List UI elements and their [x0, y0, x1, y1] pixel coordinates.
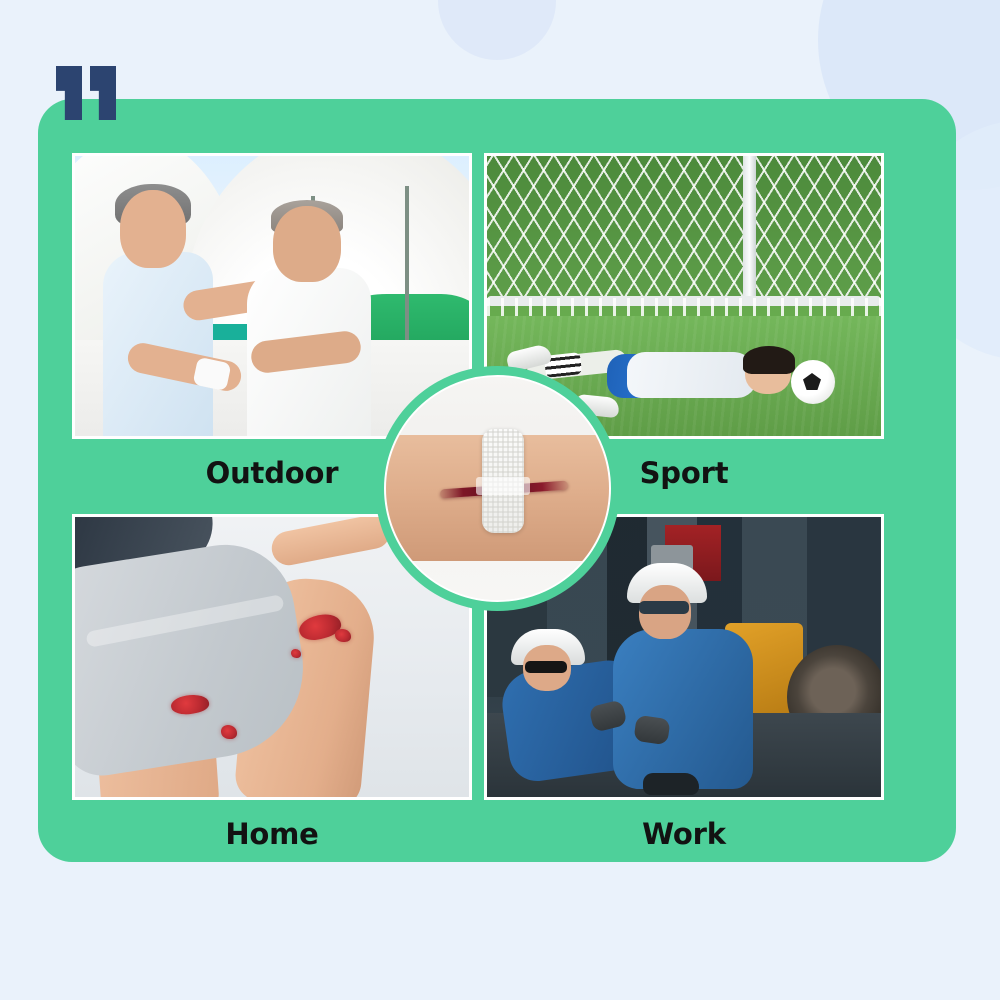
person-right-head: [273, 206, 341, 282]
person-left-head: [120, 190, 186, 268]
center-product-image-frame: [384, 375, 611, 602]
child-arm: [269, 517, 393, 568]
quote-glyph-left: [56, 66, 82, 120]
work-glove-2: [633, 715, 670, 745]
center-product-inset[interactable]: [375, 366, 620, 611]
poster-canvas: Outdoor: [0, 0, 1000, 1000]
knee-scrape-2: [335, 629, 351, 642]
goal-post-shape: [743, 156, 756, 306]
worker-crouching-safety-glasses: [639, 601, 689, 614]
worker-seated-safety-glasses: [525, 661, 567, 673]
soccer-ball: [791, 360, 835, 404]
knee-scrape-3: [291, 649, 301, 658]
quote-glyph-right: [90, 66, 116, 120]
quote-mark-icon: [56, 66, 118, 120]
use-case-label-work: Work: [484, 817, 884, 851]
tent-pole-2: [405, 186, 409, 361]
use-case-label-home: Home: [72, 817, 472, 851]
person-left-shirt: [103, 252, 213, 436]
goal-net-shape: [487, 156, 881, 306]
player-jersey-white: [627, 352, 757, 398]
work-shoe: [643, 773, 699, 795]
photo-wound-closure: [386, 377, 609, 600]
worker-crouching-body: [613, 629, 753, 789]
knee-scrape-5: [221, 725, 237, 739]
wound-closure-cross-tape: [476, 477, 530, 495]
decor-circle-top-center: [438, 0, 556, 60]
player-hair: [743, 346, 795, 374]
